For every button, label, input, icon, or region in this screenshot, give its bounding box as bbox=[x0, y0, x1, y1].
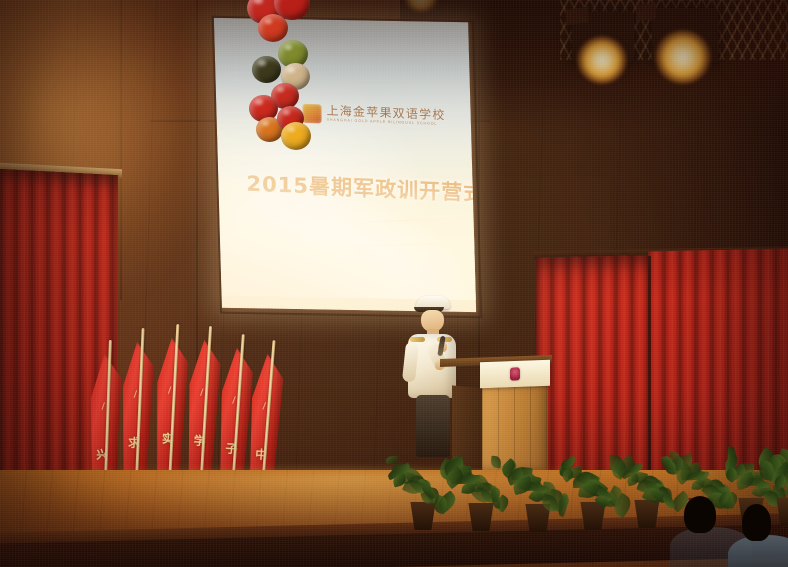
flag-character: / bbox=[101, 402, 105, 412]
leaf bbox=[386, 456, 398, 464]
lectern-plaque bbox=[480, 360, 550, 388]
flag-character: / bbox=[134, 390, 138, 400]
audience-head bbox=[742, 504, 771, 541]
barn-door bbox=[566, 6, 588, 25]
leaf bbox=[717, 491, 731, 505]
plant-foliage bbox=[752, 452, 788, 508]
balloon bbox=[252, 56, 281, 83]
slide-wave-graphic bbox=[214, 168, 476, 301]
flag-character: / bbox=[262, 402, 266, 412]
apple-logo-mark bbox=[302, 104, 321, 124]
spotlight-right bbox=[655, 30, 711, 84]
flag-character: / bbox=[200, 388, 204, 398]
stage-ceremony-photo: 上海金苹果双语学校 SHANGHAI GOLD APPLE BILINGUAL … bbox=[0, 0, 788, 567]
spotlight-left bbox=[577, 36, 627, 84]
audience-head bbox=[684, 496, 716, 533]
barn-door bbox=[636, 3, 656, 22]
flag-character: / bbox=[232, 396, 236, 406]
balloon bbox=[258, 14, 288, 42]
school-name-block: 上海金苹果双语学校 SHANGHAI GOLD APPLE BILINGUAL … bbox=[327, 105, 446, 127]
flag-character: / bbox=[168, 386, 172, 396]
school-emblem-icon bbox=[510, 367, 520, 380]
balloon bbox=[281, 122, 311, 150]
